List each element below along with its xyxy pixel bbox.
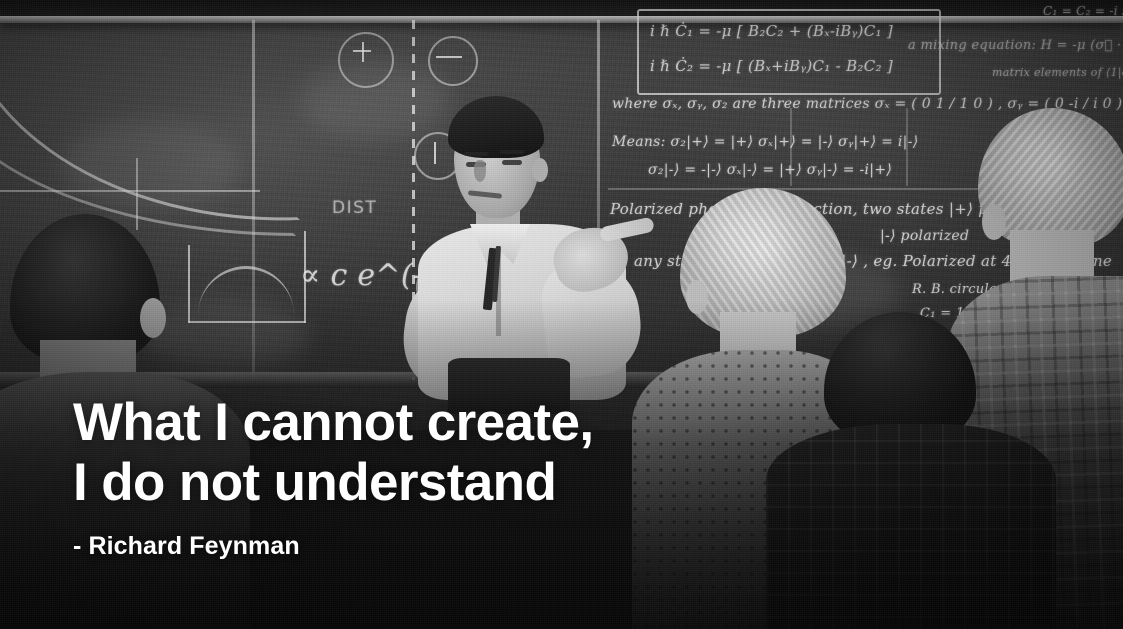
chalk-circle bbox=[338, 32, 394, 88]
student-right-front bbox=[800, 312, 1040, 629]
board-note: matrix elements of ⟨1|σ|1⟩ bbox=[992, 66, 1123, 79]
board-equation-1: i ℏ Ċ₁ = -μ [ B₂C₂ + (Bₓ-iBᵧ)C₁ ] bbox=[650, 22, 893, 40]
chalk-plus bbox=[353, 50, 371, 52]
chalk-rule bbox=[906, 108, 908, 186]
chalk-plus bbox=[362, 42, 364, 62]
quote-image: DIST ∝ c e^(-E₁/kT) i ℏ Ċ₁ = -μ [ B₂C₂ +… bbox=[0, 0, 1123, 629]
quote-overlay: What I cannot create, I do not understan… bbox=[73, 393, 593, 561]
quote-attribution: - Richard Feynman bbox=[73, 532, 593, 561]
board-line: Means: σ₂|+⟩ = |+⟩ σₓ|+⟩ = |-⟩ σᵧ|+⟩ = i… bbox=[612, 134, 918, 150]
richard-feynman bbox=[404, 96, 654, 396]
quote-line-2: I do not understand bbox=[73, 453, 593, 513]
quote-line-1: What I cannot create, bbox=[73, 393, 593, 453]
chalk-circle bbox=[428, 36, 478, 86]
chalk-arrow bbox=[436, 56, 462, 58]
board-note: a mixing equation: H = -μ (σ⃗ · B⃗) bbox=[908, 38, 1123, 53]
chalk-axis bbox=[0, 190, 260, 192]
chalk-rule bbox=[790, 108, 792, 186]
board-line: σ₂|-⟩ = -|-⟩ σₓ|-⟩ = |+⟩ σᵧ|-⟩ = -i|+⟩ bbox=[648, 162, 892, 178]
board-note: C₁ = C₂ = -i sin ωt bbox=[1043, 4, 1123, 18]
board-text-dist: DIST bbox=[332, 198, 377, 218]
board-equation-2: i ℏ Ċ₂ = -μ [ (Bₓ+iBᵧ)C₁ - B₂C₂ ] bbox=[650, 57, 893, 75]
